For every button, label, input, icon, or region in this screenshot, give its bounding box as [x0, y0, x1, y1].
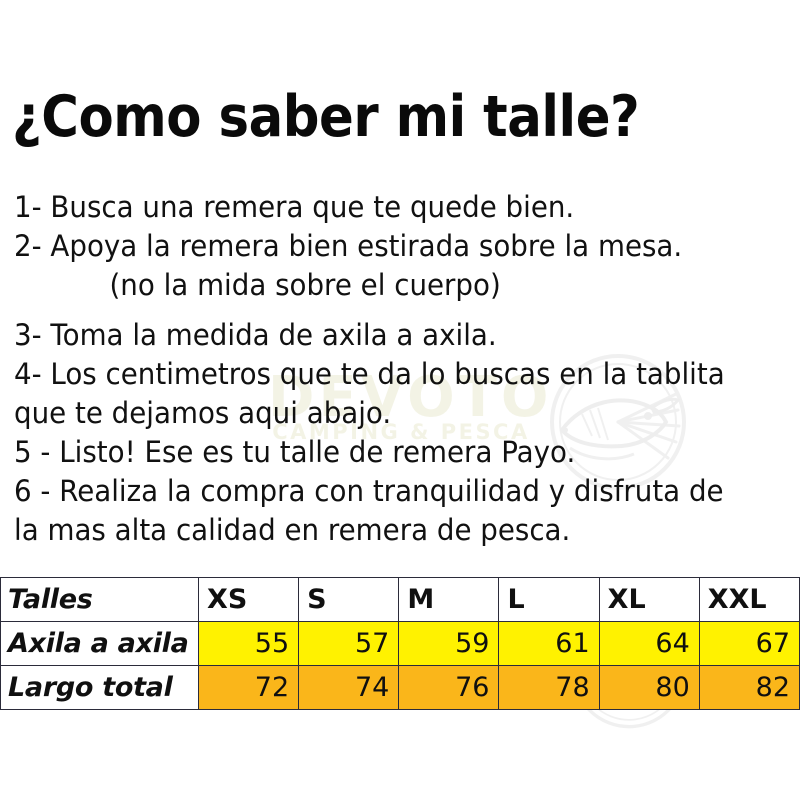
size-header-xs-text: XS	[207, 584, 298, 615]
row-label-chest-text: Axila a axila	[8, 628, 198, 659]
chest-value-xxl-text: 67	[700, 628, 790, 659]
instruction-line: 4- Los centimetros que te da lo buscas e…	[14, 355, 765, 394]
size-header-s-text: S	[307, 584, 398, 615]
chest-value-xs-text: 55	[199, 628, 289, 659]
page-title: ¿Como saber mi talle?	[12, 84, 714, 150]
instruction-line: (no la mida sobre el cuerpo)	[14, 266, 765, 305]
length-value-xl: 80	[599, 666, 699, 710]
row-label-length: Largo total	[1, 666, 199, 710]
length-value-xs-text: 72	[199, 672, 289, 703]
table-row-chest: Axila a axila 55 57 59 61 64 67	[1, 622, 800, 666]
length-value-xl-text: 80	[600, 672, 690, 703]
instruction-line: que te dejamos aqui abajo.	[14, 394, 765, 433]
instruction-line: 5 - Listo! Ese es tu talle de remera Pay…	[14, 433, 765, 472]
table-row-length: Largo total 72 74 76 78 80 82	[1, 666, 800, 710]
length-value-m: 76	[399, 666, 499, 710]
length-value-l: 78	[499, 666, 599, 710]
size-header-m: M	[399, 578, 499, 622]
length-value-s: 74	[299, 666, 399, 710]
length-value-m-text: 76	[399, 672, 489, 703]
chest-value-xl-text: 64	[600, 628, 690, 659]
chest-value-xl: 64	[599, 622, 699, 666]
chest-value-s-text: 57	[299, 628, 389, 659]
length-value-xxl: 82	[699, 666, 799, 710]
length-value-s-text: 74	[299, 672, 389, 703]
size-chart-body: Talles XS S M L XL XXL	[1, 578, 800, 710]
size-header-m-text: M	[407, 584, 498, 615]
instruction-line: 3- Toma la medida de axila a axila.	[14, 316, 765, 355]
size-chart-table: Talles XS S M L XL XXL	[0, 577, 800, 710]
length-value-l-text: 78	[499, 672, 589, 703]
size-header-xxl-text: XXL	[708, 584, 799, 615]
size-header-l-text: L	[507, 584, 598, 615]
size-header-xxl: XXL	[699, 578, 799, 622]
corner-label-text: Talles	[8, 584, 198, 615]
chest-value-xxl: 67	[699, 622, 799, 666]
size-header-s: S	[299, 578, 399, 622]
table-corner-label: Talles	[1, 578, 199, 622]
chest-value-m: 59	[399, 622, 499, 666]
chest-value-l: 61	[499, 622, 599, 666]
size-header-xs: XS	[199, 578, 299, 622]
instruction-line: 6 - Realiza la compra con tranquilidad y…	[14, 472, 765, 511]
chest-value-m-text: 59	[399, 628, 489, 659]
length-value-xs: 72	[199, 666, 299, 710]
size-guide-page: DEVOTO CAMPING & PESCA	[0, 0, 800, 800]
size-header-l: L	[499, 578, 599, 622]
instruction-line: la mas alta calidad en remera de pesca.	[14, 511, 765, 550]
table-header-row: Talles XS S M L XL XXL	[1, 578, 800, 622]
chest-value-xs: 55	[199, 622, 299, 666]
length-value-xxl-text: 82	[700, 672, 790, 703]
row-label-chest: Axila a axila	[1, 622, 199, 666]
instruction-line: 1- Busca una remera que te quede bien.	[14, 188, 765, 227]
instruction-line: 2- Apoya la remera bien estirada sobre l…	[14, 227, 765, 266]
size-header-xl-text: XL	[608, 584, 699, 615]
size-header-xl: XL	[599, 578, 699, 622]
row-label-length-text: Largo total	[8, 672, 198, 703]
chest-value-l-text: 61	[499, 628, 589, 659]
chest-value-s: 57	[299, 622, 399, 666]
instructions-list: 1- Busca una remera que te quede bien.2-…	[14, 188, 800, 550]
